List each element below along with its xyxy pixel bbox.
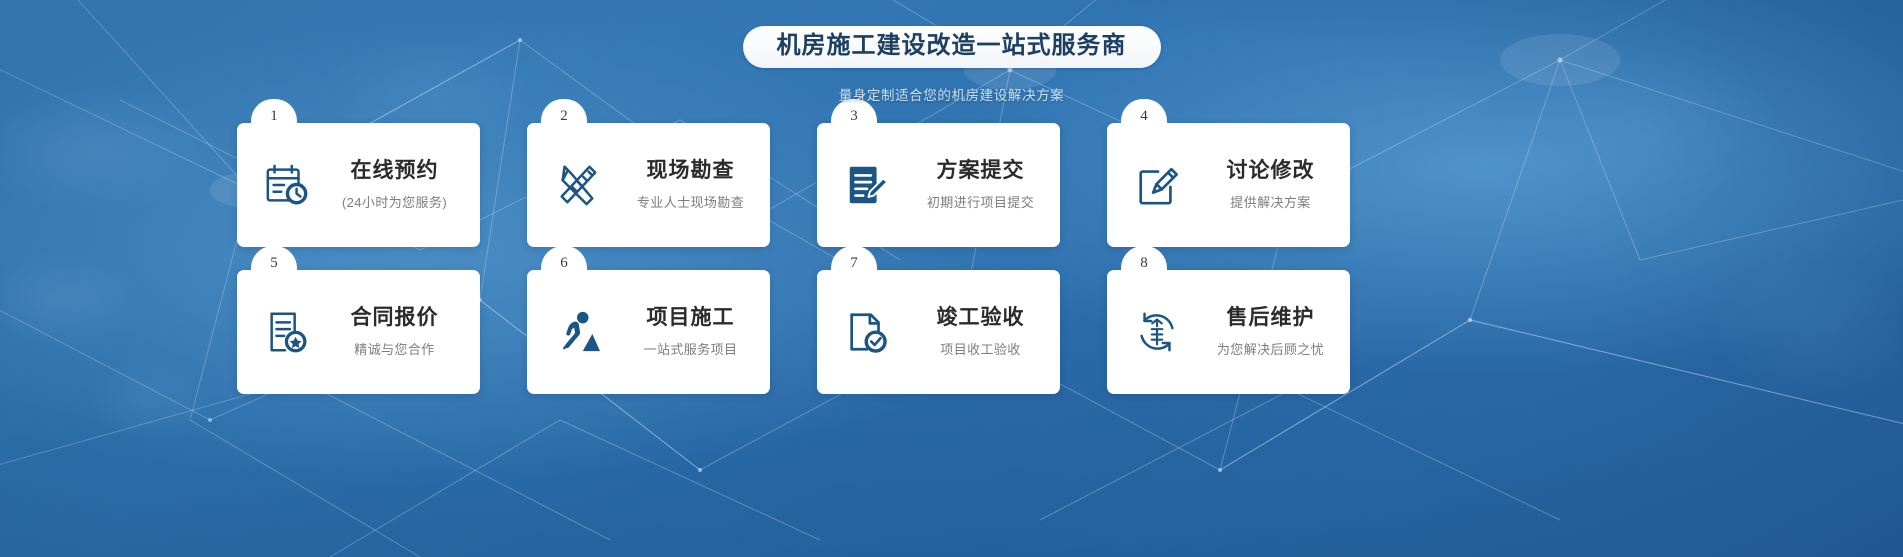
step-title: 方案提交 [917,159,1044,183]
process-card-6[interactable]: 6 项目施工 一站式 [527,270,770,394]
process-card-1[interactable]: 1 在线预约 [237,123,480,247]
step-title: 在线预约 [325,159,464,183]
process-card-4[interactable]: 4 讨论修改 提供解决方案 [1107,123,1350,247]
pencil-ruler-icon [551,159,603,211]
banner-header: 机房施工建设改造一站式服务商 量身定制适合您的机房建设解决方案 [0,0,1903,104]
after-sales-cycle-icon [1131,306,1183,358]
step-title: 现场勘查 [627,159,754,183]
step-title: 项目施工 [627,306,754,330]
step-title: 竣工验收 [917,306,1044,330]
process-card-3[interactable]: 3 [817,123,1060,247]
step-subtitle: 专业人士现场勘查 [627,196,754,211]
page-title: 机房施工建设改造一站式服务商 [743,26,1161,68]
step-subtitle: (24小时为您服务) [325,196,464,211]
step-subtitle: 精诚与您合作 [325,343,464,358]
process-steps-grid: 1 在线预约 [237,123,1347,394]
step-title: 售后维护 [1207,306,1334,330]
contract-star-icon [261,306,313,358]
calendar-clock-icon [261,159,313,211]
process-row-2: 5 [237,270,1347,394]
construction-worker-icon [551,306,603,358]
step-title: 合同报价 [325,306,464,330]
page-subtitle: 量身定制适合您的机房建设解决方案 [0,84,1903,104]
edit-square-icon [1131,159,1183,211]
service-process-banner: 机房施工建设改造一站式服务商 量身定制适合您的机房建设解决方案 1 [0,0,1903,557]
step-subtitle: 为您解决后顾之忧 [1207,343,1334,358]
step-subtitle: 初期进行项目提交 [917,196,1044,211]
process-card-5[interactable]: 5 [237,270,480,394]
process-card-2[interactable]: 2 现场勘查 [527,123,770,247]
document-check-icon [841,306,893,358]
step-subtitle: 一站式服务项目 [627,343,754,358]
process-card-8[interactable]: 8 [1107,270,1350,394]
document-edit-icon [841,159,893,211]
step-title: 讨论修改 [1207,159,1334,183]
process-row-1: 1 在线预约 [237,123,1347,247]
step-subtitle: 提供解决方案 [1207,196,1334,211]
process-card-7[interactable]: 7 竣工验收 项目收工验收 [817,270,1060,394]
step-subtitle: 项目收工验收 [917,343,1044,358]
